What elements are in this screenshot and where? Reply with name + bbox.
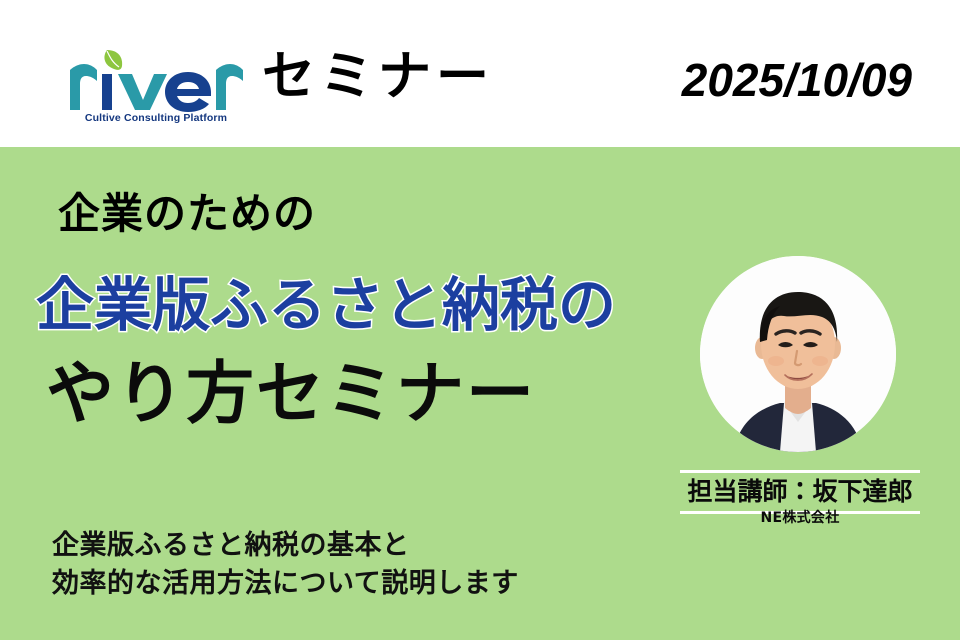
river-logo: Cultive Consulting Platform (66, 48, 246, 140)
speaker-company: NE株式会社 (680, 511, 920, 525)
headline-primary: 企業版ふるさと納税の (36, 276, 616, 334)
seminar-poster: Cultive Consulting Platform セミナー 2025/10… (0, 0, 960, 640)
seminar-label: セミナー (262, 50, 494, 103)
speaker-name: 担当講師：坂下達郎 (680, 470, 920, 514)
kicker-text: 企業のための (58, 193, 316, 235)
subcopy-line-2: 効率的な活用方法について説明します (52, 565, 519, 603)
header-band: Cultive Consulting Platform セミナー 2025/10… (0, 0, 960, 147)
speaker-portrait (700, 256, 896, 452)
event-date: 2025/10/09 (682, 57, 912, 103)
subcopy: 企業版ふるさと納税の基本と 効率的な活用方法について説明します (52, 527, 519, 604)
river-wordmark-icon (66, 48, 246, 112)
logo-tagline: Cultive Consulting Platform (66, 112, 246, 124)
headline-secondary: やり方セミナー (46, 360, 536, 428)
subcopy-line-1: 企業版ふるさと納税の基本と (52, 527, 519, 565)
